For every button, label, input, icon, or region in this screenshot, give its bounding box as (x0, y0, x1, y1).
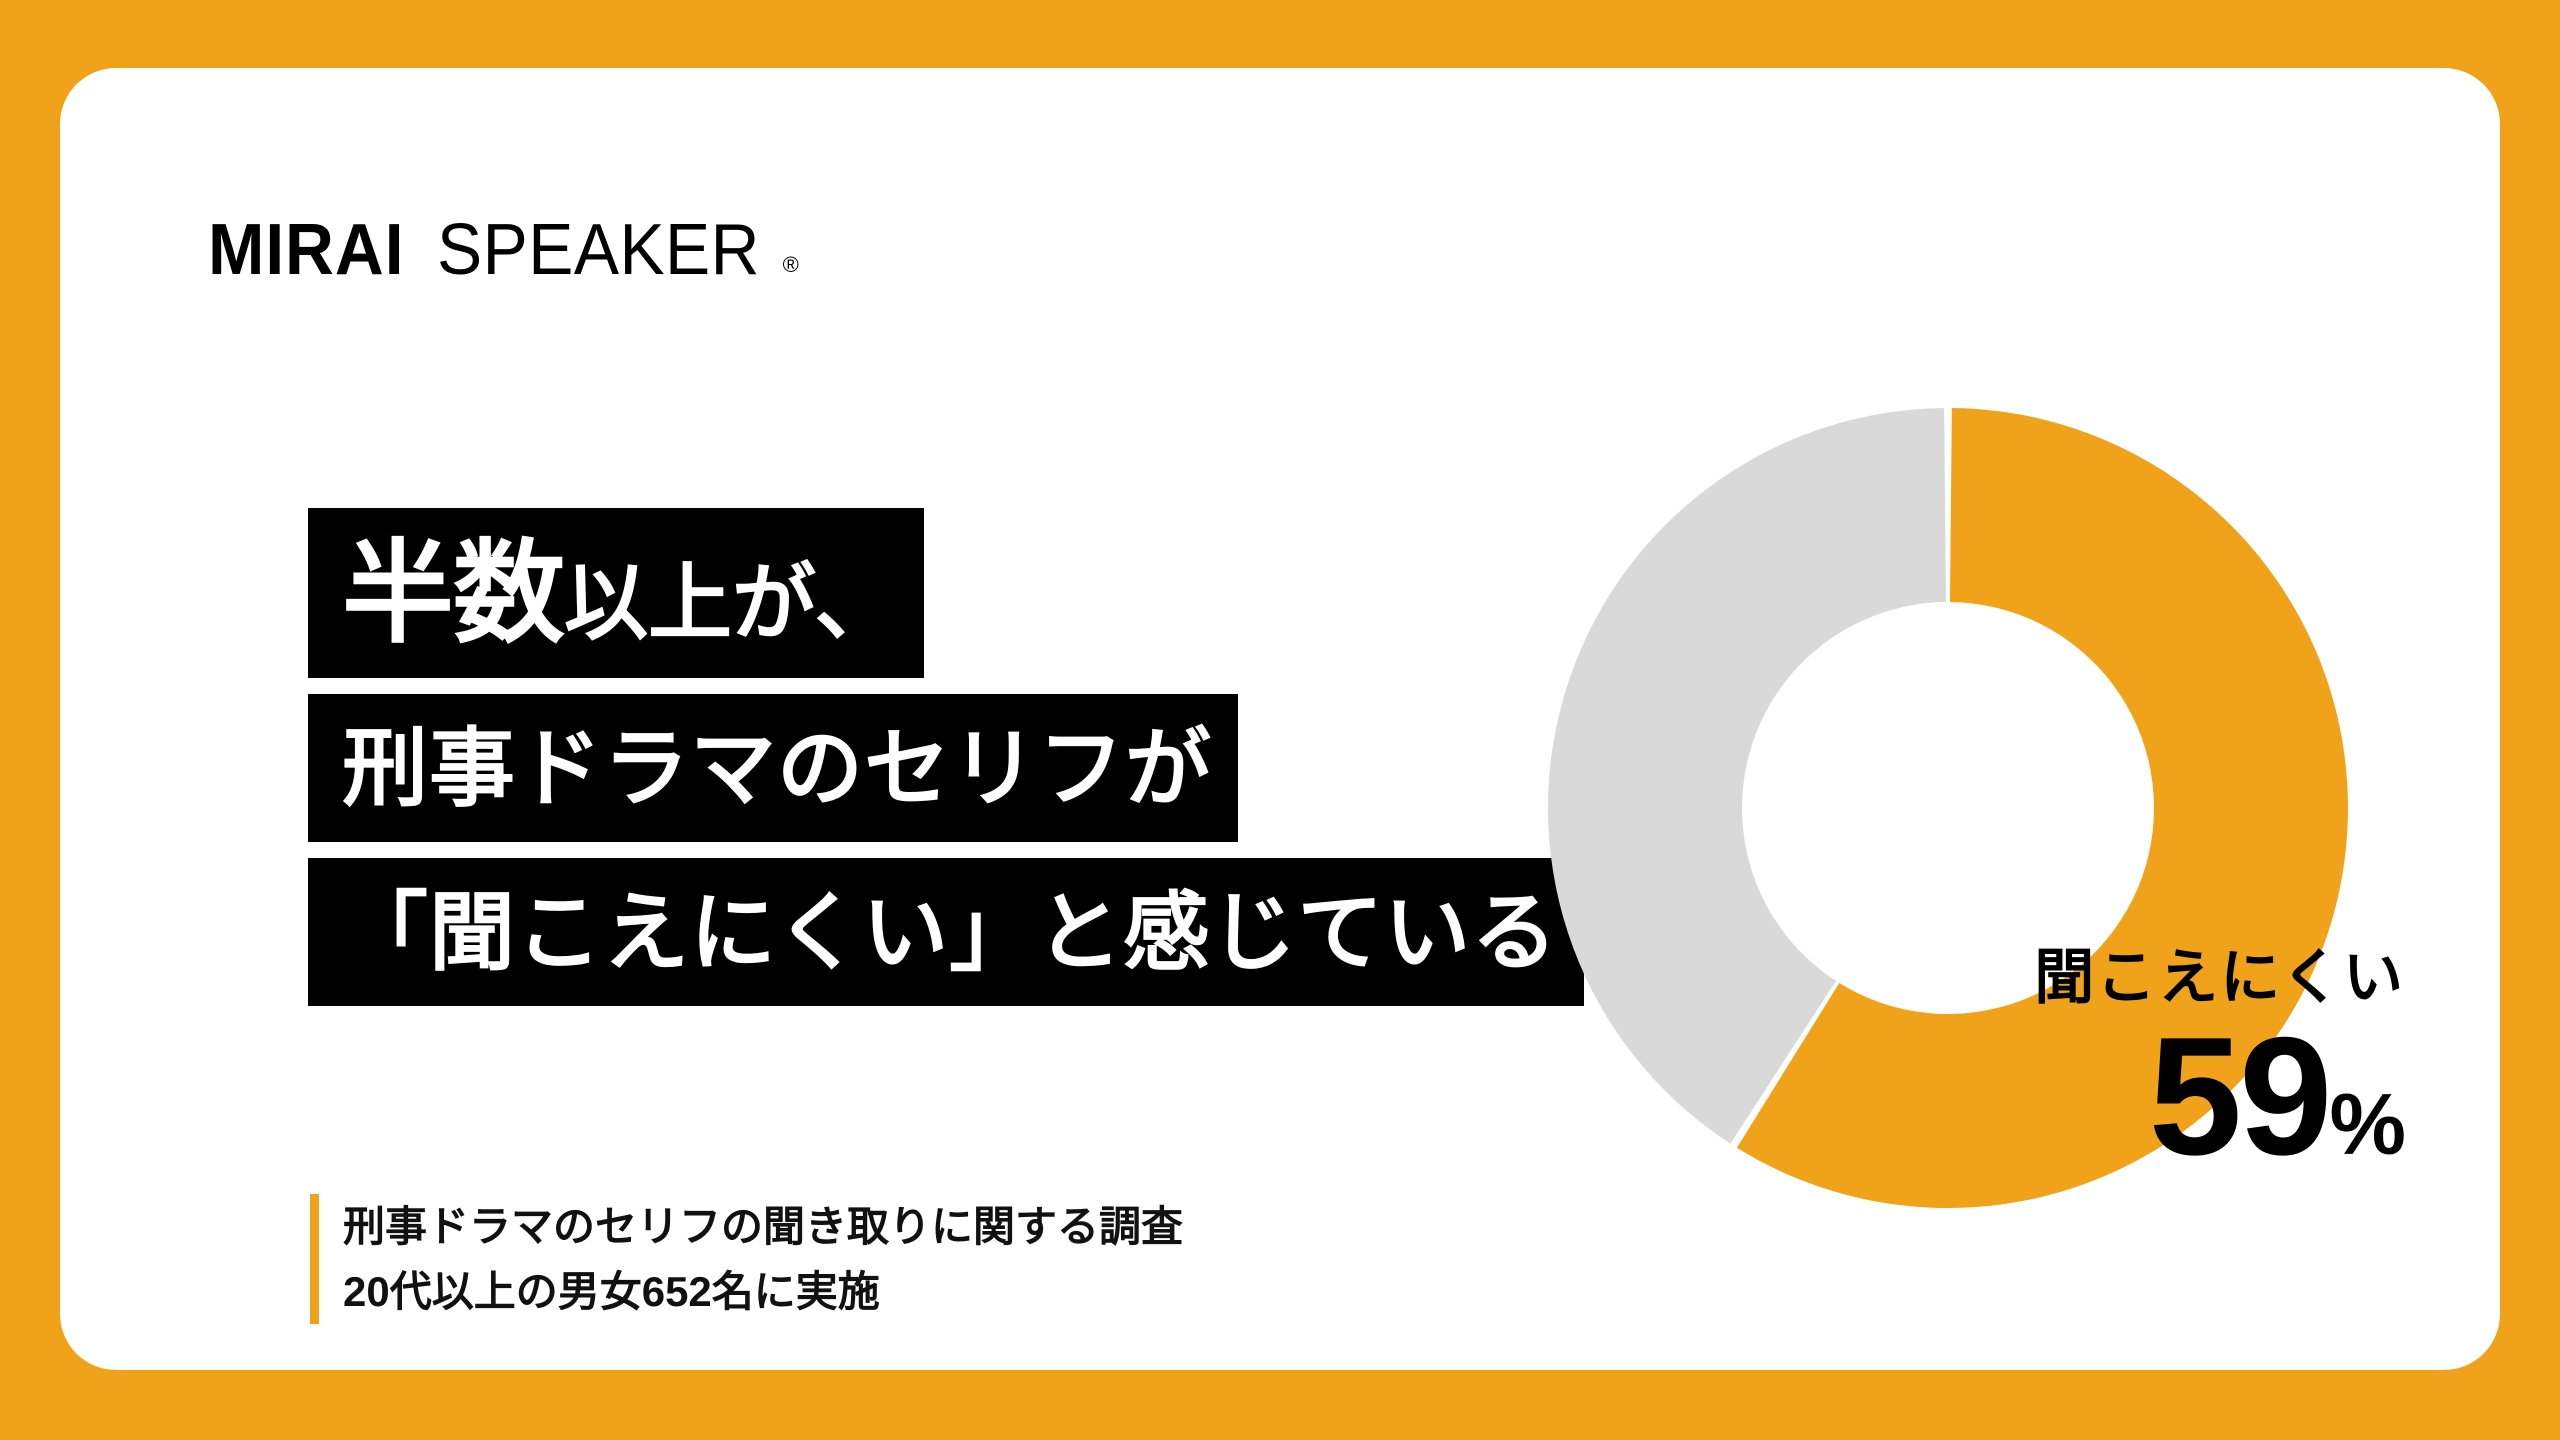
footnote-line-2: 20代以上の男女652名に実施 (343, 1259, 1183, 1324)
headline-line-2: 刑事ドラマのセリフが (308, 694, 1238, 842)
donut-slice-group (1548, 408, 2348, 1208)
donut-chart (1548, 408, 2348, 1208)
registered-trademark-icon: ® (783, 254, 799, 276)
headline-line-1-rest: 以上が、 (564, 556, 898, 650)
headline-line-3: 「聞こえにくい」と感じている (308, 858, 1584, 1006)
logo-primary-text: MIRAI (208, 214, 404, 286)
brand-logo: MIRAI SPEAKER ® (208, 214, 799, 286)
footnote-accent-bar (310, 1194, 319, 1324)
headline-line-2-text: 刑事ドラマのセリフが (342, 721, 1212, 817)
headline-emphasis: 半数 (342, 531, 564, 656)
headline-line-1-wrap: 半数以上が、 (308, 508, 1584, 678)
poster-canvas: MIRAI SPEAKER ® 半数以上が、 刑事ドラマのセリフが 「聞こえにく… (0, 0, 2560, 1440)
headline-line-1: 半数以上が、 (308, 508, 924, 678)
donut-chart-svg (1548, 408, 2348, 1208)
headline-line-3-wrap: 「聞こえにくい」と感じている (308, 858, 1584, 1006)
headline-block: 半数以上が、 刑事ドラマのセリフが 「聞こえにくい」と感じている (308, 508, 1584, 1006)
logo-secondary-text: SPEAKER (437, 214, 760, 286)
headline-line-3-text: 「聞こえにくい」と感じている (342, 885, 1558, 981)
headline-line-2-wrap: 刑事ドラマのセリフが (308, 694, 1584, 842)
content-card: MIRAI SPEAKER ® 半数以上が、 刑事ドラマのセリフが 「聞こえにく… (60, 68, 2500, 1370)
footnote-text: 刑事ドラマのセリフの聞き取りに関する調査 20代以上の男女652名に実施 (319, 1194, 1183, 1324)
survey-footnote: 刑事ドラマのセリフの聞き取りに関する調査 20代以上の男女652名に実施 (310, 1194, 1183, 1324)
footnote-line-1: 刑事ドラマのセリフの聞き取りに関する調査 (343, 1194, 1183, 1259)
